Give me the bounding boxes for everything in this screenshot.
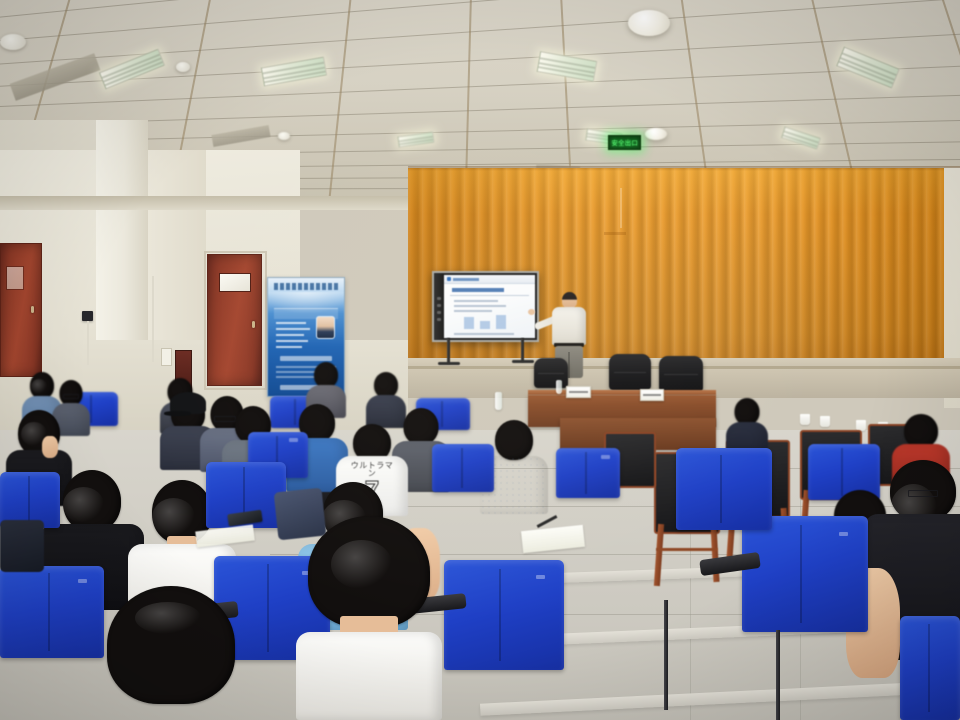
slide-chart: [480, 321, 490, 329]
smoke-detector-icon: [176, 62, 190, 72]
fluorescent-troffer: [261, 57, 327, 87]
banner-title: [274, 283, 338, 290]
door-handle[interactable]: [31, 306, 34, 313]
door-handle[interactable]: [252, 321, 255, 328]
wall-sign-small: [161, 348, 172, 366]
curtain-top-shadow: [408, 166, 960, 171]
wall-conduit: [87, 321, 89, 365]
fluorescent-troffer: [537, 51, 598, 82]
name-card: [566, 386, 591, 398]
slide-chart: [464, 317, 474, 329]
smoke-detector-icon: [278, 132, 290, 140]
audience-person: [726, 398, 768, 454]
door-far-left[interactable]: [0, 243, 42, 377]
wall-conduit: [152, 276, 154, 362]
glasses-icon: [63, 394, 79, 399]
name-card: [640, 389, 664, 401]
paper-cup[interactable]: [820, 416, 830, 427]
audience-person: [96, 586, 246, 720]
exec-chair[interactable]: [659, 356, 703, 392]
auditorium-seat[interactable]: [444, 560, 564, 670]
slide-chart: [496, 315, 506, 329]
glasses-icon: [908, 490, 938, 497]
wall-junction-box: [82, 311, 93, 321]
seat-pedestal: [776, 630, 780, 720]
slide-title-text: [453, 278, 479, 281]
water-bottle[interactable]: [556, 380, 562, 394]
tv-side-bezel: [434, 273, 444, 340]
tv-stand-foot: [438, 362, 460, 365]
auditorium-seat[interactable]: [432, 444, 494, 492]
auditorium-seat[interactable]: [742, 516, 868, 632]
banner-section-heading: [280, 356, 332, 361]
smoke-detector-icon: [0, 34, 26, 50]
paper-cup[interactable]: [800, 414, 810, 425]
hand: [42, 436, 58, 458]
presenter-shirt: [552, 307, 586, 345]
door-window: [6, 266, 24, 290]
lecture-hall-photo: 安全出口: [0, 0, 960, 720]
fluorescent-troffer: [836, 47, 899, 89]
door-window: [219, 273, 251, 292]
banner-portrait: [316, 316, 335, 339]
dome-ceiling-light: [645, 128, 667, 140]
auditorium-seat[interactable]: [556, 448, 620, 498]
app-logo-icon: [447, 277, 451, 281]
slide-heading: [452, 288, 504, 292]
door-left-rear[interactable]: [207, 254, 262, 386]
exec-chair[interactable]: [609, 354, 651, 390]
fluorescent-troffer: [397, 132, 434, 148]
dome-ceiling-light: [628, 10, 670, 36]
presenter-hand: [528, 309, 535, 315]
ceiling-soffit: [0, 196, 408, 210]
exit-sign-label: 安全出口: [611, 138, 638, 147]
air-vent: [211, 125, 270, 147]
water-bottle[interactable]: [495, 392, 502, 410]
backpack: [274, 488, 327, 541]
emergency-exit-sign: 安全出口: [608, 135, 641, 150]
exec-chair[interactable]: [534, 358, 568, 388]
seat-pedestal: [664, 600, 668, 710]
backpack: [0, 520, 44, 572]
fluorescent-troffer: [781, 126, 821, 149]
tv-stand-leg: [447, 338, 450, 364]
tv-stand-foot: [512, 360, 534, 363]
presentation-display[interactable]: [432, 271, 539, 342]
auditorium-seat[interactable]: [900, 616, 960, 720]
auditorium-seat[interactable]: [0, 566, 104, 658]
tv-stand-leg: [521, 338, 524, 362]
audience-person: [296, 516, 442, 720]
auditorium-seat[interactable]: [676, 448, 772, 530]
slide-screen: [444, 275, 535, 338]
